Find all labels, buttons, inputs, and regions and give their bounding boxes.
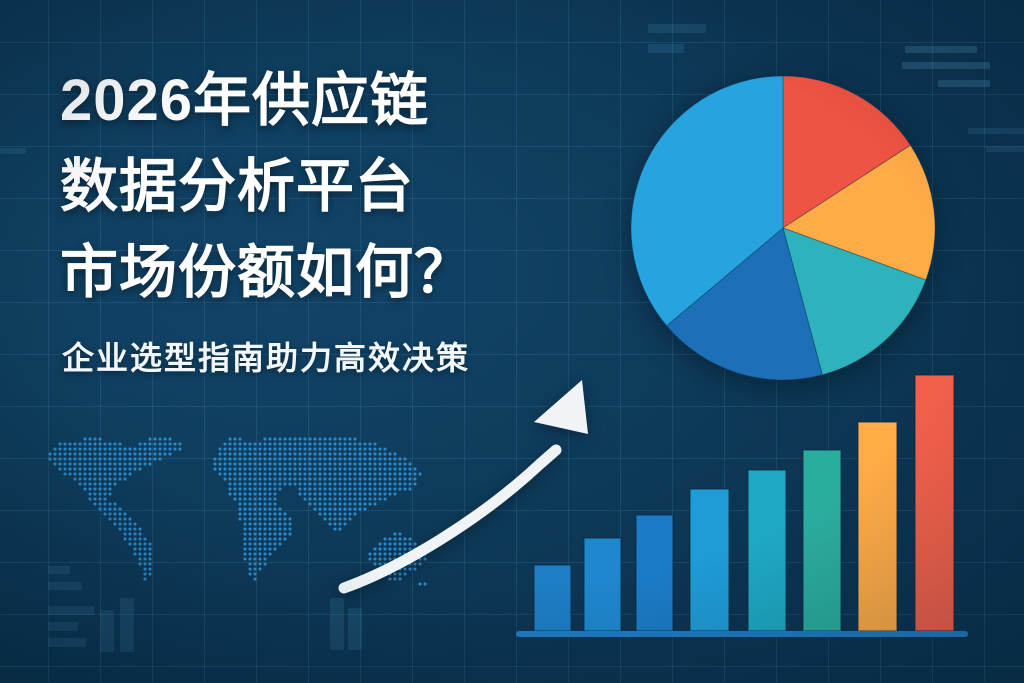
infographic-poster: 2026年供应链 数据分析平台 市场份额如何？ 企业选型指南助力高效决策 [0, 0, 1024, 683]
title-line-2: 数据分析平台 [60, 144, 580, 230]
bar-rect [803, 450, 841, 631]
decor-bar-top-left-2 [648, 44, 684, 53]
pie-chart [628, 73, 938, 383]
bar-rect [636, 515, 673, 631]
bar-rect [748, 470, 786, 631]
decor-bar-top-right-1 [905, 46, 977, 53]
decor-bar-top-right-3 [938, 80, 990, 87]
bar-rect [690, 489, 729, 631]
decor-bar-far-left-1 [0, 148, 26, 154]
bar-chart-axis-line [516, 631, 968, 637]
bar-rect [915, 375, 954, 631]
bar-rect [584, 538, 621, 631]
title-line-3: 市场份额如何？ [60, 230, 580, 316]
bar-rect [858, 422, 897, 631]
headline-block: 2026年供应链 数据分析平台 市场份额如何？ [60, 58, 580, 316]
decor-bar-top-right-2 [902, 62, 990, 69]
title-line-1: 2026年供应链 [60, 58, 580, 144]
bar-rect [534, 565, 571, 631]
bar-chart [510, 360, 980, 650]
decor-bar-mid-right-2 [986, 146, 1024, 152]
decor-bar-mid-right-1 [968, 128, 1024, 134]
decor-bar-top-left-1 [648, 24, 706, 33]
